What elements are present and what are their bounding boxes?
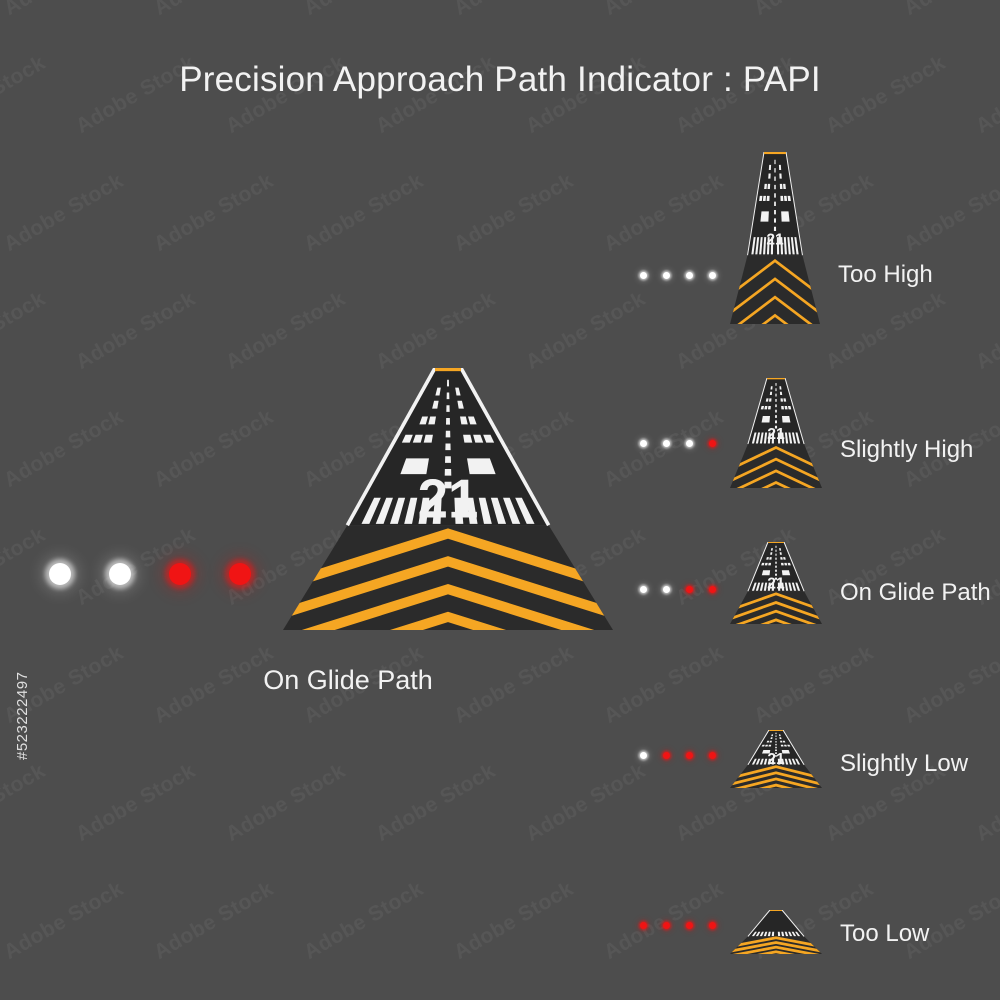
- main-papi-light-bar: [30, 552, 270, 596]
- papi-light-red-icon: [686, 586, 693, 593]
- watermark-text: Adobe Stock: [522, 995, 650, 1000]
- watermark-text: Adobe Stock: [750, 641, 878, 729]
- watermark-text: Adobe Stock: [900, 0, 1000, 21]
- papi-row-slightly-low: 21Slightly Low: [640, 730, 968, 788]
- papi-light-white-icon: [640, 440, 647, 447]
- runway-graphic: [730, 910, 822, 954]
- papi-light-red-icon: [640, 922, 647, 929]
- papi-light-red-icon: [709, 922, 716, 929]
- main-caption: On Glide Path: [183, 665, 513, 696]
- runway-designator: 21: [418, 467, 479, 529]
- papi-row-on-glide-path: 21On Glide Path: [640, 542, 991, 624]
- runway-graphic: 21: [730, 152, 820, 324]
- runway-thumbnail-on-glide-path: 21: [730, 542, 822, 624]
- watermark-text: Adobe Stock: [600, 641, 728, 729]
- papi-light-red-icon: [169, 563, 191, 585]
- papi-light-red-icon: [709, 752, 716, 759]
- papi-light-bar-slightly-low: [640, 748, 716, 762]
- papi-light-white-icon: [640, 272, 647, 279]
- papi-light-white-icon: [709, 272, 716, 279]
- watermark-text: Adobe Stock: [0, 759, 50, 847]
- papi-light-white-icon: [109, 563, 131, 585]
- watermark-text: Adobe Stock: [0, 995, 50, 1000]
- runway-thumbnail-too-high: 21: [730, 152, 820, 324]
- papi-light-red-icon: [663, 922, 670, 929]
- watermark-text: Adobe Stock: [150, 169, 278, 257]
- watermark-text: Adobe Stock: [522, 287, 650, 375]
- watermark-text: Adobe Stock: [0, 0, 128, 21]
- watermark-text: Adobe Stock: [300, 0, 428, 21]
- papi-light-white-icon: [663, 586, 670, 593]
- main-runway-illustration: 21: [283, 368, 613, 630]
- watermark-text: Adobe Stock: [372, 759, 500, 847]
- runway-thumbnail-too-low: [730, 910, 822, 954]
- runway-thumbnail-slightly-low: 21: [730, 730, 822, 788]
- watermark-text: Adobe Stock: [450, 0, 578, 21]
- papi-light-white-icon: [686, 440, 693, 447]
- watermark-text: Adobe Stock: [72, 759, 200, 847]
- papi-label-slightly-high: Slightly High: [840, 438, 973, 462]
- papi-label-too-high: Too High: [838, 263, 933, 287]
- watermark-text: Adobe Stock: [600, 0, 728, 21]
- watermark-text: Adobe Stock: [0, 877, 128, 965]
- page-title: Precision Approach Path Indicator : PAPI: [0, 60, 1000, 100]
- runway-graphic: 21: [730, 542, 822, 624]
- papi-light-slot: [150, 552, 210, 596]
- papi-light-white-icon: [640, 752, 647, 759]
- watermark-text: Adobe Stock: [750, 0, 878, 21]
- watermark-text: Adobe Stock: [72, 995, 200, 1000]
- papi-light-slot: [30, 552, 90, 596]
- watermark-text: Adobe Stock: [822, 995, 950, 1000]
- watermark-text: Adobe Stock: [72, 287, 200, 375]
- papi-light-white-icon: [663, 440, 670, 447]
- runway-designator: 21: [767, 426, 785, 443]
- papi-light-red-icon: [229, 563, 251, 585]
- watermark-text: Adobe Stock: [450, 169, 578, 257]
- watermark-text: Adobe Stock: [222, 287, 350, 375]
- watermark-text: Adobe Stock: [972, 995, 1000, 1000]
- papi-light-white-icon: [663, 272, 670, 279]
- papi-light-red-icon: [686, 922, 693, 929]
- papi-light-bar-slightly-high: [640, 436, 716, 450]
- papi-light-bar-too-high: [640, 268, 716, 282]
- watermark-text: Adobe Stock: [222, 995, 350, 1000]
- watermark-text: Adobe Stock: [522, 759, 650, 847]
- papi-label-too-low: Too Low: [840, 922, 929, 946]
- watermark-text: Adobe Stock: [450, 877, 578, 965]
- watermark-text: Adobe Stock: [150, 0, 278, 21]
- papi-light-slot: [90, 552, 150, 596]
- watermark-text: Adobe Stock: [150, 405, 278, 493]
- runway-thumbnail-slightly-high: 21: [730, 378, 822, 488]
- papi-row-too-high: 21Too High: [640, 152, 933, 324]
- watermark-text: Adobe Stock: [150, 877, 278, 965]
- runway-designator: 21: [766, 232, 784, 249]
- main-runway-graphic: 21: [283, 368, 613, 630]
- watermark-text: Adobe Stock: [972, 759, 1000, 847]
- papi-light-bar-on-glide-path: [640, 582, 716, 596]
- papi-label-on-glide-path: On Glide Path: [840, 581, 991, 605]
- runway-designator: 21: [767, 575, 785, 592]
- watermark-text: Adobe Stock: [900, 641, 1000, 729]
- papi-light-red-icon: [686, 752, 693, 759]
- watermark-text: Adobe Stock: [372, 287, 500, 375]
- runway-graphic: 21: [730, 730, 822, 788]
- runway-graphic: 21: [730, 378, 822, 488]
- papi-light-bar-too-low: [640, 918, 716, 932]
- papi-light-white-icon: [640, 586, 647, 593]
- watermark-text: Adobe Stock: [300, 169, 428, 257]
- watermark-text: Adobe Stock: [0, 169, 128, 257]
- watermark-text: Adobe Stock: [222, 759, 350, 847]
- papi-light-red-icon: [709, 586, 716, 593]
- papi-light-white-icon: [49, 563, 71, 585]
- watermark-text: Adobe Stock: [300, 877, 428, 965]
- papi-label-slightly-low: Slightly Low: [840, 752, 968, 776]
- papi-light-slot: [210, 552, 270, 596]
- papi-light-red-icon: [663, 752, 670, 759]
- watermark-text: Adobe Stock: [672, 995, 800, 1000]
- watermark-text: Adobe Stock: [972, 287, 1000, 375]
- watermark-text: Adobe Stock: [0, 405, 128, 493]
- papi-row-slightly-high: 21Slightly High: [640, 378, 973, 488]
- runway-designator: 21: [767, 751, 785, 768]
- papi-row-too-low: Too Low: [640, 910, 929, 954]
- watermark-text: Adobe Stock: [372, 995, 500, 1000]
- papi-infographic: Adobe StockAdobe StockAdobe StockAdobe S…: [0, 0, 1000, 1000]
- papi-light-white-icon: [686, 272, 693, 279]
- watermark-text: Adobe Stock: [0, 287, 50, 375]
- papi-light-red-icon: [709, 440, 716, 447]
- watermark-id: #523222497: [14, 672, 31, 760]
